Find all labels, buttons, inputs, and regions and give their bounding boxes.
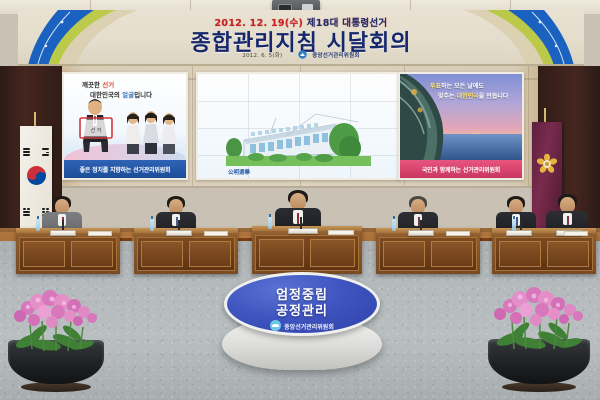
left-poster-man-figure-icon: 선 거 bbox=[74, 96, 120, 152]
water-bottle bbox=[36, 219, 40, 231]
microphone bbox=[520, 220, 522, 230]
flower-planter-right bbox=[488, 284, 590, 392]
svg-text:선 거: 선 거 bbox=[91, 127, 102, 134]
blooms-left bbox=[8, 290, 104, 326]
display-center-projection: 公明選擧 bbox=[196, 72, 400, 180]
water-bottle bbox=[268, 217, 272, 229]
banner-organization: 중앙선거관리위원회 bbox=[312, 53, 359, 59]
right-poster-headline: 투표하는 모든 날에도 맞추는 대한민국을 만듭니다 bbox=[430, 82, 518, 101]
microphone bbox=[300, 217, 302, 229]
nameplate bbox=[408, 230, 434, 236]
flower-planter-left bbox=[8, 288, 104, 392]
water-bottle bbox=[150, 219, 154, 231]
nameplate bbox=[50, 230, 76, 236]
display-left-poster: 깨끗한 선거 대한민국의 얼굴입니다 선 거 bbox=[62, 72, 188, 180]
document-papers bbox=[564, 231, 588, 236]
microphone bbox=[420, 220, 422, 230]
microphone bbox=[62, 220, 64, 230]
commission-emblem-icon bbox=[270, 320, 281, 331]
nameplate-chair bbox=[288, 228, 318, 234]
center-screen-caption: 公明選擧 bbox=[228, 168, 250, 176]
banner-sub-date: 2012. 6. 5(화) bbox=[242, 53, 282, 59]
nameplate bbox=[506, 230, 532, 236]
banner-subline: 2012. 6. 5(화) 중앙선거관리위원회 bbox=[18, 50, 584, 61]
document-papers bbox=[446, 231, 470, 236]
commission-logo-icon bbox=[298, 50, 307, 61]
display-right-poster: 투표하는 모든 날에도 맞추는 대한민국을 만듭니다 국민과 함께하는 선거관리… bbox=[398, 72, 524, 180]
water-bottle bbox=[392, 219, 396, 231]
event-banner: 2012. 12. 19(수) 제18대 대통령선거 종합관리지침 시달회의 2… bbox=[18, 10, 584, 66]
conference-room-photo: 2012. 12. 19(수) 제18대 대통령선거 종합관리지침 시달회의 2… bbox=[0, 0, 600, 400]
left-poster-women-figures-icon bbox=[123, 110, 181, 154]
document-papers bbox=[328, 230, 354, 235]
microphone bbox=[178, 220, 180, 230]
center-screen-building-photo bbox=[226, 110, 371, 166]
stage-slogan-sign: 엄정중립 공정관리 중앙선거관리위원회 bbox=[224, 272, 380, 336]
document-papers bbox=[204, 231, 228, 236]
nameplate bbox=[166, 230, 192, 236]
stage-slogan-line2: 공정관리 bbox=[227, 300, 377, 319]
water-bottle bbox=[512, 219, 516, 231]
stage-organization: 중앙선거관리위원회 bbox=[227, 320, 377, 331]
blooms-right bbox=[488, 286, 590, 324]
document-papers bbox=[88, 231, 112, 236]
left-poster-slogan-band: 좋은 정치를 지향하는 선거관리위원회 bbox=[64, 160, 186, 178]
right-poster-slogan-band: 국민과 함께하는 선거관리위원회 bbox=[400, 160, 522, 178]
